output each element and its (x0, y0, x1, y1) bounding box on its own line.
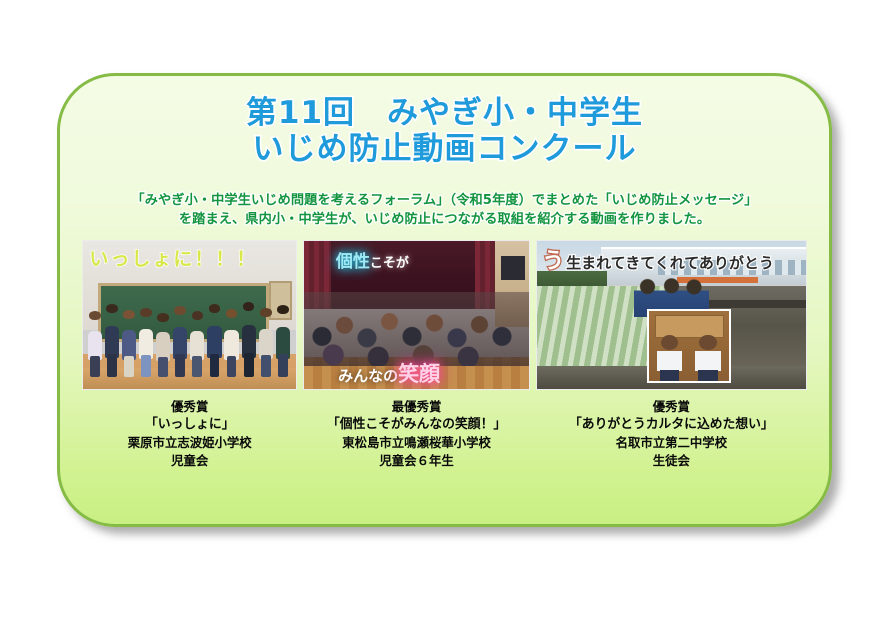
overlay-highlight-word: 笑顔 (398, 362, 440, 386)
poster-description: 「みやぎ小・中学生いじめ問題を考えるフォーラム」（令和5年度）でまとめた「いじめ… (60, 191, 829, 229)
entry-group: 児童会 (128, 452, 252, 470)
poster-title: 第11回 みやぎ小・中学生 いじめ防止動画コンクール (60, 96, 829, 168)
title-line-2: いじめ防止動画コンクール (60, 132, 829, 168)
inset-photo (647, 309, 730, 383)
entry-caption: 優秀賞 「いっしょに」 栗原市立志波姫小学校 児童会 (128, 398, 252, 470)
title-line-1: 第11回 みやぎ小・中学生 (60, 96, 829, 132)
student-crowd (304, 292, 528, 366)
inset-student-left (657, 335, 682, 381)
overlay-initial-char: う (542, 249, 564, 274)
overlay-main-word: 個性 (336, 252, 370, 272)
entry-list: いっしょに！！！ 優秀賞 「いっしょに」 栗原市立志波姫小学校 児童会 個性こそ… (60, 240, 829, 470)
entry-photo-classroom: いっしょに！！！ (82, 240, 297, 390)
photo-overlay-text: う生まれてきてくれてありがとう (542, 243, 774, 275)
entry-school: 名取市立第二中学校 (569, 434, 774, 452)
inset-student-right (695, 335, 720, 381)
entry-work-title: 「いっしょに」 (128, 416, 252, 434)
description-line-1: 「みやぎ小・中学生いじめ問題を考えるフォーラム」（令和5年度）でまとめた「いじめ… (60, 191, 829, 210)
student-group (83, 286, 296, 378)
entry-work-title: 「個性こそがみんなの笑顔！」 (327, 416, 506, 434)
entry-work-title: 「ありがとうカルタに込めた想い」 (569, 416, 774, 434)
entry-award: 優秀賞 (128, 398, 252, 416)
entry-photo-outdoor: う生まれてきてくれてありがとう (536, 240, 807, 390)
entry-item: う生まれてきてくれてありがとう 優秀賞 「ありがとうカルタに込めた想い」 名取市… (536, 240, 807, 470)
overlay-phrase: 生まれてきてくれてありがとう (566, 254, 774, 272)
overlay-sub-word: こそが (370, 256, 409, 271)
description-line-2: を踏まえ、県内小・中学生が、いじめ防止につながる取組を紹介する動画を作りました。 (60, 210, 829, 229)
photo-overlay-text-top: 個性こそが (336, 247, 409, 272)
entry-group: 生徒会 (569, 452, 774, 470)
entry-item: いっしょに！！！ 優秀賞 「いっしょに」 栗原市立志波姫小学校 児童会 (82, 240, 297, 470)
photo-overlay-text: いっしょに！！！ (89, 244, 257, 271)
entry-caption: 優秀賞 「ありがとうカルタに込めた想い」 名取市立第二中学校 生徒会 (569, 398, 774, 470)
photo-overlay-text-bottom: みんなの笑顔 (338, 358, 440, 388)
entry-caption: 最優秀賞 「個性こそがみんなの笑顔！」 東松島市立鳴瀬桜華小学校 児童会６年生 (327, 398, 506, 470)
entry-school: 東松島市立鳴瀬桜華小学校 (327, 434, 506, 452)
entry-photo-gymnasium: 個性こそが みんなの笑顔 (303, 240, 529, 390)
entry-school: 栗原市立志波姫小学校 (128, 434, 252, 452)
entry-award: 最優秀賞 (327, 398, 506, 416)
gym-screen (501, 256, 526, 280)
entry-item: 個性こそが みんなの笑顔 最優秀賞 「個性こそがみんなの笑顔！」 東松島市立鳴瀬… (303, 240, 529, 470)
poster-panel: 第11回 みやぎ小・中学生 いじめ防止動画コンクール 「みやぎ小・中学生いじめ問… (57, 73, 832, 527)
entry-group: 児童会６年生 (327, 452, 506, 470)
overlay-pre-word: みんなの (338, 367, 398, 385)
entry-award: 優秀賞 (569, 398, 774, 416)
